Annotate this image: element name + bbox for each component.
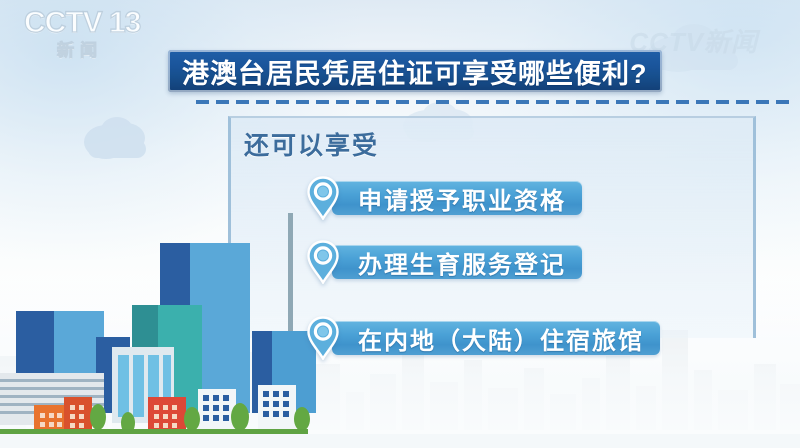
location-pin-icon	[306, 316, 340, 360]
broadcast-screen: CCTV 13 新闻 CCTV新闻 港澳台居民凭居住证可享受哪些便利? 还可以享…	[0, 0, 800, 448]
list-item[interactable]: 办理生育服务登记	[306, 242, 582, 282]
cctv-logo-main: CCTV 13	[24, 6, 174, 40]
headline-banner: 港澳台居民凭居住证可享受哪些便利?	[168, 50, 662, 92]
location-pin-icon	[306, 240, 340, 284]
list-item-label: 在内地（大陆）住宿旅馆	[358, 321, 644, 356]
cctv-logo: CCTV 13 新闻	[24, 6, 174, 70]
bottom-band	[0, 434, 800, 448]
list-item-pill[interactable]: 在内地（大陆）住宿旅馆	[332, 321, 660, 355]
headline-text: 港澳台居民凭居住证可享受哪些便利?	[182, 52, 648, 91]
list-item-pill[interactable]: 办理生育服务登记	[332, 245, 582, 279]
list-item-label: 申请授予职业资格	[358, 181, 566, 216]
list-item[interactable]: 在内地（大陆）住宿旅馆	[306, 318, 660, 358]
ground-strip	[0, 429, 308, 434]
list-item-label: 办理生育服务登记	[358, 245, 566, 280]
list-item[interactable]: 申请授予职业资格	[306, 178, 582, 218]
cctv-logo-sub: 新闻	[57, 41, 174, 61]
location-pin-icon	[306, 176, 340, 220]
list-item-pill[interactable]: 申请授予职业资格	[332, 181, 582, 215]
dashed-divider	[196, 100, 796, 104]
cloud-icon-left	[76, 112, 158, 168]
panel-title: 还可以享受	[244, 126, 379, 162]
